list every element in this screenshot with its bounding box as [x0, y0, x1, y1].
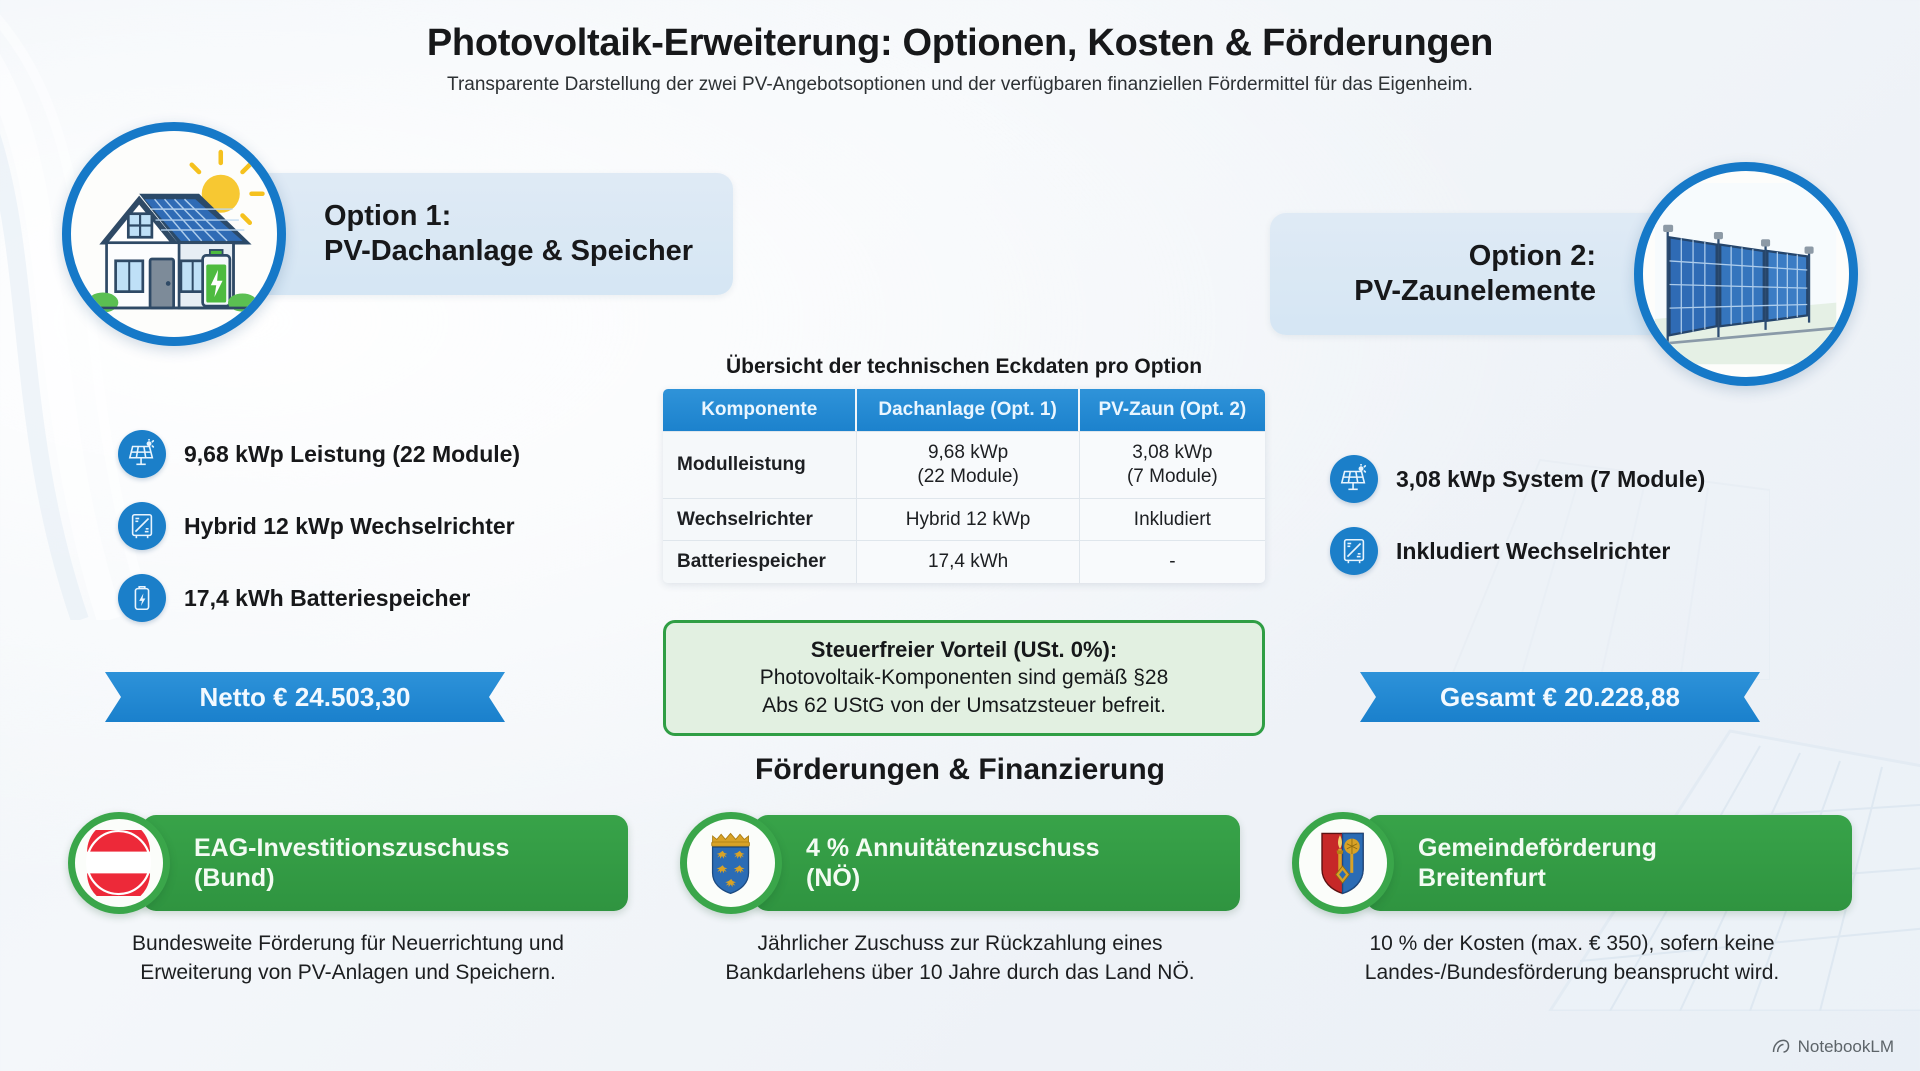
notebooklm-watermark: NotebookLM [1771, 1037, 1894, 1057]
option-1-feature-list: 9,68 kWp Leistung (22 Module) Hybrid 12 … [118, 430, 520, 622]
column-header-option2: PV-Zaun (Opt. 2) [1080, 389, 1265, 431]
option-1-label-line2: PV-Dachanlage & Speicher [324, 234, 693, 269]
funding-description-municipality: 10 % der Kosten (max. € 350), sofern kei… [1292, 930, 1852, 988]
funding-label-line1: 4 % Annuitätenzuschuss [806, 833, 1214, 863]
solar-panel-icon [118, 430, 166, 478]
list-item: 3,08 kWp System (7 Module) [1330, 455, 1705, 503]
tech-specs-table: Komponente Dachanlage (Opt. 1) PV-Zaun (… [663, 389, 1265, 583]
option-2-header-row: Option 2: PV-Zaunelemente [1270, 162, 1858, 386]
option-2-feature-list: 3,08 kWp System (7 Module) Inkludiert We… [1330, 455, 1705, 575]
funding-desc-line1: 10 % der Kosten (max. € 350), sofern kei… [1292, 930, 1852, 959]
option-2-illustration-badge [1634, 162, 1858, 386]
cell-option2: - [1080, 540, 1265, 583]
option-2-price-ribbon: Gesamt € 20.228,88 [1360, 672, 1760, 722]
feature-label: Inkludiert Wechselrichter [1396, 538, 1670, 565]
table-row: Batteriespeicher 17,4 kWh - [663, 540, 1265, 583]
list-item: 17,4 kWh Batteriespeicher [118, 574, 520, 622]
funding-label-line2: Breitenfurt [1418, 863, 1826, 893]
funding-desc-line1: Bundesweite Förderung für Neuerrichtung … [68, 930, 628, 959]
list-item: Inkludiert Wechselrichter [1330, 527, 1705, 575]
cell-option2: Inkludiert [1080, 498, 1265, 541]
option-2-price-label: Gesamt € 20.228,88 [1440, 682, 1680, 713]
tech-table-caption: Übersicht der technischen Eckdaten pro O… [663, 355, 1265, 379]
cell-option1: 9,68 kWp(22 Module) [857, 431, 1079, 498]
tax-note-line2: Abs 62 UStG von der Umsatzsteuer befreit… [684, 692, 1244, 720]
option-1-illustration-badge [62, 122, 286, 346]
option-1-price-label: Netto € 24.503,30 [199, 682, 410, 713]
funding-desc-line2: Landes-/Bundesförderung beansprucht wird… [1292, 959, 1852, 988]
tech-specs-section: Übersicht der technischen Eckdaten pro O… [663, 355, 1265, 583]
watermark-label: NotebookLM [1798, 1037, 1894, 1057]
funding-description-annuity: Jährlicher Zuschuss zur Rückzahlung eine… [680, 930, 1240, 988]
column-header-option1: Dachanlage (Opt. 1) [857, 389, 1079, 431]
cell-option1: Hybrid 12 kWp [857, 498, 1079, 541]
column-header-component: Komponente [663, 389, 857, 431]
cell-component: Wechselrichter [663, 498, 857, 541]
option-2-label-line2: PV-Zaunelemente [1310, 274, 1596, 309]
list-item: 9,68 kWp Leistung (22 Module) [118, 430, 520, 478]
table-row: Wechselrichter Hybrid 12 kWp Inkludiert [663, 498, 1265, 541]
feature-label: 9,68 kWp Leistung (22 Module) [184, 441, 520, 468]
cell-component: Modulleistung [663, 431, 857, 498]
notebooklm-logo-icon [1771, 1037, 1791, 1057]
austria-flag-icon [68, 812, 170, 914]
option-1-price-ribbon: Netto € 24.503,30 [105, 672, 505, 722]
table-row: Modulleistung 9,68 kWp(22 Module) 3,08 k… [663, 431, 1265, 498]
funding-label-line1: EAG-Investitionszuschuss [194, 833, 602, 863]
funding-description-eag: Bundesweite Förderung für Neuerrichtung … [68, 930, 628, 988]
tax-note-line1: Photovoltaik-Komponenten sind gemäß §28 [684, 664, 1244, 692]
house-with-solar-roof-and-battery-icon [83, 143, 264, 324]
cell-option2: 3,08 kWp(7 Module) [1080, 431, 1265, 498]
cell-component: Batteriespeicher [663, 540, 857, 583]
funding-label-line2: (NÖ) [806, 863, 1214, 893]
funding-label-municipality: Gemeindeförderung Breitenfurt [1366, 815, 1852, 911]
table-header-row: Komponente Dachanlage (Opt. 1) PV-Zaun (… [663, 389, 1265, 431]
funding-desc-line2: Erweiterung von PV-Anlagen und Speichern… [68, 959, 628, 988]
funding-desc-line2: Bankdarlehens über 10 Jahre durch das La… [680, 959, 1240, 988]
funding-card-municipality: Gemeindeförderung Breitenfurt 10 % der K… [1292, 812, 1852, 988]
feature-label: 17,4 kWh Batteriespeicher [184, 585, 470, 612]
funding-card-eag: EAG-Investitionszuschuss (Bund) Bundeswe… [68, 812, 628, 988]
lower-austria-coat-of-arms-icon [680, 812, 782, 914]
inverter-icon [1330, 527, 1378, 575]
solar-panel-icon [1330, 455, 1378, 503]
tax-exemption-note: Steuerfreier Vorteil (USt. 0%): Photovol… [663, 620, 1265, 736]
option-1-header-row: Option 1: PV-Dachanlage & Speicher [62, 122, 733, 346]
option-2-label-line1: Option 2: [1310, 239, 1596, 274]
option-1-label-line1: Option 1: [324, 199, 693, 234]
funding-label-line2: (Bund) [194, 863, 602, 893]
funding-section-title: Förderungen & Finanzierung [0, 753, 1920, 787]
feature-label: Hybrid 12 kWp Wechselrichter [184, 513, 515, 540]
funding-label-line1: Gemeindeförderung [1418, 833, 1826, 863]
funding-label-annuity: 4 % Annuitätenzuschuss (NÖ) [754, 815, 1240, 911]
funding-cards-grid: EAG-Investitionszuschuss (Bund) Bundeswe… [0, 812, 1920, 988]
list-item: Hybrid 12 kWp Wechselrichter [118, 502, 520, 550]
battery-icon [118, 574, 166, 622]
breitenfurt-coat-of-arms-icon [1292, 812, 1394, 914]
option-1-label: Option 1: PV-Dachanlage & Speicher [246, 173, 733, 296]
funding-card-annuity: 4 % Annuitätenzuschuss (NÖ) Jährlicher Z… [680, 812, 1240, 988]
funding-desc-line1: Jährlicher Zuschuss zur Rückzahlung eine… [680, 930, 1240, 959]
inverter-icon [118, 502, 166, 550]
option-2-label: Option 2: PV-Zaunelemente [1270, 213, 1674, 336]
funding-label-eag: EAG-Investitionszuschuss (Bund) [142, 815, 628, 911]
tax-note-heading: Steuerfreier Vorteil (USt. 0%): [684, 635, 1244, 664]
feature-label: 3,08 kWp System (7 Module) [1396, 466, 1705, 493]
cell-option1: 17,4 kWh [857, 540, 1079, 583]
solar-fence-icon [1655, 183, 1836, 364]
